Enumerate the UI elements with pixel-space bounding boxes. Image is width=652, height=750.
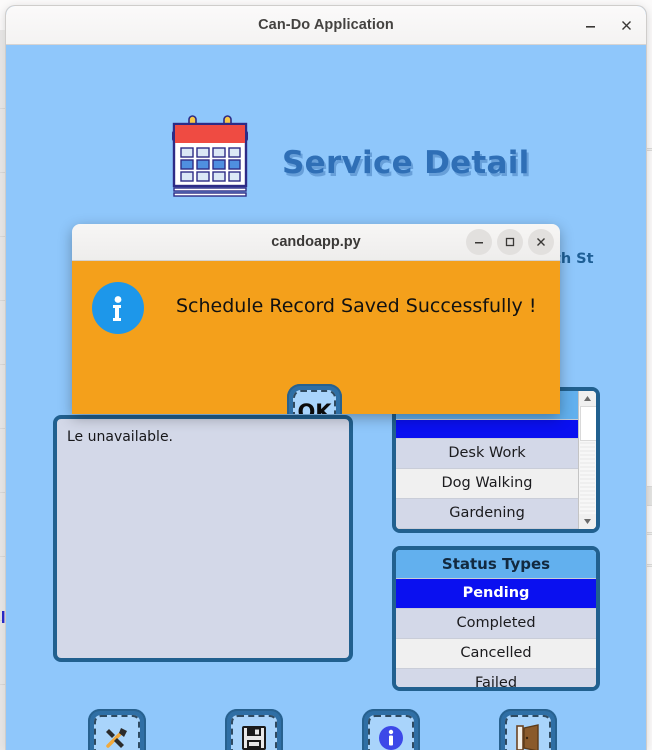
service-notes-text[interactable]: Le unavailable. bbox=[53, 415, 353, 662]
window-title: Can-Do Application bbox=[258, 17, 394, 33]
window-controls bbox=[576, 6, 640, 44]
exit-button[interactable] bbox=[499, 709, 557, 750]
tools-button[interactable] bbox=[88, 709, 146, 750]
scrollbar-track[interactable] bbox=[580, 439, 595, 514]
scroll-down-icon[interactable] bbox=[579, 514, 596, 529]
dialog-window-controls bbox=[466, 224, 554, 260]
list-item-cancelled[interactable]: Cancelled bbox=[396, 639, 596, 669]
scrollbar-thumb[interactable] bbox=[580, 406, 597, 441]
list-item-failed[interactable]: Failed bbox=[396, 669, 596, 691]
info-button[interactable] bbox=[362, 709, 420, 750]
service-types-scrollbar[interactable] bbox=[578, 391, 596, 529]
status-types-listbox[interactable]: Status Types Pending Completed Cancelled… bbox=[392, 546, 600, 691]
dialog-titlebar[interactable]: candoapp.py bbox=[72, 224, 560, 261]
dialog-close-icon[interactable] bbox=[528, 229, 554, 255]
page-header: Service Detail bbox=[6, 57, 646, 167]
scroll-up-icon[interactable] bbox=[579, 391, 596, 406]
list-item-completed[interactable]: Completed bbox=[396, 609, 596, 639]
list-item[interactable]: Desk Work bbox=[396, 439, 578, 469]
dialog-maximize-icon[interactable] bbox=[497, 229, 523, 255]
ok-button[interactable]: OK bbox=[287, 384, 342, 414]
minimize-icon[interactable] bbox=[576, 11, 604, 39]
info-icon bbox=[376, 723, 406, 750]
close-icon[interactable] bbox=[612, 11, 640, 39]
dialog-message: Schedule Record Saved Successfully ! bbox=[176, 291, 546, 321]
screen: Can-Do Application bbox=[0, 0, 652, 750]
list-item[interactable]: Dog Walking bbox=[396, 469, 578, 499]
status-types-items: Status Types Pending Completed Cancelled… bbox=[396, 550, 596, 687]
tools-icon bbox=[102, 723, 132, 750]
list-item[interactable]: Gardening bbox=[396, 499, 578, 529]
info-circle-icon bbox=[92, 282, 144, 334]
window-titlebar[interactable]: Can-Do Application bbox=[6, 6, 646, 45]
dialog-title: candoapp.py bbox=[271, 234, 360, 250]
dialog-content: Schedule Record Saved Successfully ! OK bbox=[72, 261, 560, 414]
status-types-header: Status Types bbox=[396, 550, 596, 579]
ok-button-label: OK bbox=[293, 390, 336, 414]
message-dialog: candoapp.py Schedule Record S bbox=[72, 224, 560, 414]
page-title: Service Detail bbox=[282, 145, 530, 181]
dialog-minimize-icon[interactable] bbox=[466, 229, 492, 255]
open-door-icon bbox=[513, 723, 543, 750]
service-types-selected-item[interactable] bbox=[396, 420, 578, 439]
list-item-pending[interactable]: Pending bbox=[396, 579, 596, 609]
floppy-disk-icon bbox=[239, 723, 269, 750]
calendar-icon bbox=[169, 112, 251, 200]
save-button[interactable] bbox=[225, 709, 283, 750]
